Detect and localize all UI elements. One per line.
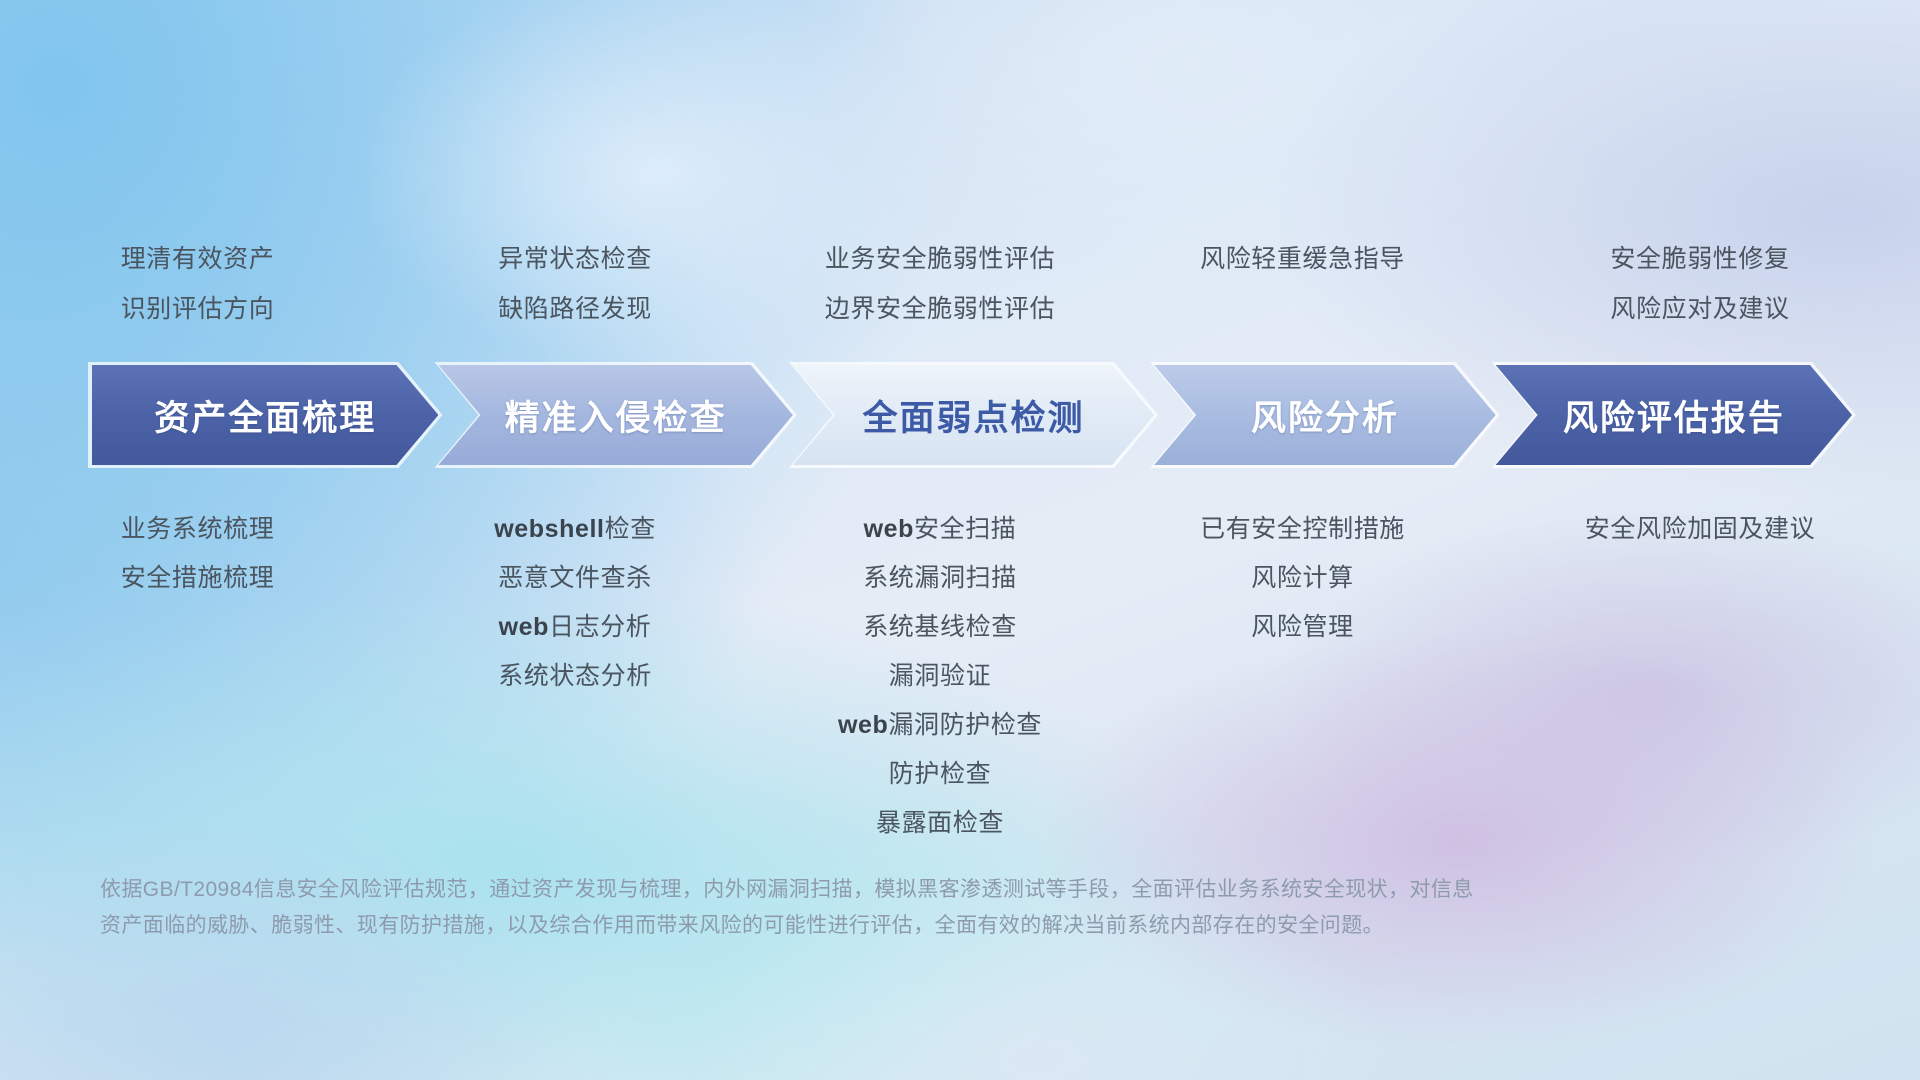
bottom-caption-item: 风险管理 (1131, 603, 1474, 652)
chevron-label: 风险分析 (1251, 390, 1399, 441)
bottom-captions-step-3: web安全扫描 系统漏洞扫描 系统基线检查 漏洞验证 web漏洞防护检查 防护检… (755, 505, 1125, 848)
chevron-label: 精准入侵检查 (505, 390, 727, 441)
chevron-body: 风险分析 (1154, 365, 1496, 465)
bottom-caption-item: webshell检查 (401, 505, 749, 554)
bottom-caption-zh: 日志分析 (549, 613, 651, 641)
bottom-caption-item: 安全风险加固及建议 (1486, 505, 1914, 554)
bottom-caption-zh: 风险管理 (1251, 613, 1353, 641)
chevron-body: 全面弱点检测 (793, 365, 1154, 465)
chevron-body: 精准入侵检查 (438, 365, 792, 465)
chevron-step-4[interactable]: 风险分析 (1154, 365, 1496, 465)
bottom-caption-item: 防护检查 (761, 750, 1119, 799)
bottom-caption-item: 漏洞验证 (761, 652, 1119, 701)
top-caption-item: 理清有效资产 (6, 234, 389, 284)
chevron-step-2[interactable]: 精准入侵检查 (438, 365, 792, 465)
bottom-caption-zh: 系统基线检查 (863, 613, 1017, 641)
top-captions-step-5: 安全脆弱性修复 风险应对及建议 (1480, 234, 1920, 334)
chevron-body: 资产全面梳理 (92, 365, 438, 465)
bottom-caption-item: web日志分析 (401, 603, 749, 652)
bottom-caption-item: 系统基线检查 (761, 603, 1119, 652)
bottom-caption-item: 恶意文件查杀 (401, 554, 749, 603)
bottom-caption-en: web (864, 515, 914, 543)
bottom-caption-item: 已有安全控制措施 (1131, 505, 1474, 554)
chevron-label: 全面弱点检测 (862, 390, 1084, 441)
top-captions-step-4: 风险轻重缓急指导 (1125, 234, 1480, 334)
process-chevron-band: 资产全面梳理 精准入侵检查 全面弱点检测 风险分析 风险评估报告 (92, 365, 1852, 465)
bottom-caption-zh: 已有安全控制措施 (1200, 515, 1405, 543)
top-captions-step-3: 业务安全脆弱性评估 边界安全脆弱性评估 (755, 234, 1125, 334)
chevron-step-5[interactable]: 风险评估报告 (1496, 365, 1852, 465)
bottom-caption-item: web漏洞防护检查 (761, 701, 1119, 750)
bottom-caption-zh: 业务系统梳理 (121, 515, 275, 543)
chevron-label: 风险评估报告 (1563, 390, 1785, 441)
bottom-captions-step-5: 安全风险加固及建议 (1480, 505, 1920, 848)
top-caption-item: 识别评估方向 (6, 284, 389, 334)
top-caption-item: 缺陷路径发现 (401, 284, 749, 334)
bottom-caption-zh: 风险计算 (1251, 564, 1353, 592)
bottom-caption-item: 系统漏洞扫描 (761, 554, 1119, 603)
chevron-step-3[interactable]: 全面弱点检测 (793, 365, 1154, 465)
chevron-body: 风险评估报告 (1496, 365, 1852, 465)
bottom-captions-row: 业务系统梳理 安全措施梳理 webshell检查 恶意文件查杀 web日志分析 (0, 505, 1920, 848)
chevron-step-1[interactable]: 资产全面梳理 (92, 365, 438, 465)
top-caption-item: 业务安全脆弱性评估 (761, 234, 1119, 284)
bottom-captions-step-1: 业务系统梳理 安全措施梳理 (0, 505, 395, 848)
process-diagram: 理清有效资产 识别评估方向 异常状态检查 缺陷路径发现 业务安全脆弱性评估 边界… (0, 0, 1920, 1080)
bottom-caption-zh: 检查 (605, 515, 656, 543)
bottom-caption-item: 系统状态分析 (401, 652, 749, 701)
bottom-caption-zh: 安全扫描 (914, 515, 1016, 543)
bottom-caption-zh: 漏洞验证 (889, 662, 991, 690)
bottom-caption-zh: 安全措施梳理 (121, 564, 275, 592)
top-caption-item: 安全脆弱性修复 (1486, 234, 1914, 284)
bottom-caption-item: 暴露面检查 (761, 799, 1119, 848)
top-captions-step-1: 理清有效资产 识别评估方向 (0, 234, 395, 334)
bottom-captions-step-2: webshell检查 恶意文件查杀 web日志分析 系统状态分析 (395, 505, 755, 848)
top-caption-item: 边界安全脆弱性评估 (761, 284, 1119, 334)
top-caption-item: 异常状态检查 (401, 234, 749, 284)
bottom-caption-item: web安全扫描 (761, 505, 1119, 554)
bottom-caption-item: 业务系统梳理 (6, 505, 389, 554)
bottom-caption-zh: 暴露面检查 (876, 809, 1004, 837)
bottom-caption-en: web (838, 711, 888, 739)
bottom-caption-zh: 漏洞防护检查 (888, 711, 1042, 739)
top-caption-item: 风险应对及建议 (1486, 284, 1914, 334)
chevron-label: 资产全面梳理 (154, 390, 376, 441)
bottom-caption-zh: 恶意文件查杀 (498, 564, 652, 592)
top-caption-item: 风险轻重缓急指导 (1131, 234, 1474, 284)
bottom-caption-zh: 系统状态分析 (498, 662, 652, 690)
bottom-caption-zh: 系统漏洞扫描 (863, 564, 1017, 592)
bottom-caption-zh: 安全风险加固及建议 (1585, 515, 1815, 543)
bottom-caption-zh: 防护检查 (889, 760, 991, 788)
bottom-caption-item: 风险计算 (1131, 554, 1474, 603)
footnote-line-2: 资产面临的威胁、脆弱性、现有防护措施，以及综合作用而带来风险的可能性进行评估，全… (100, 908, 1700, 944)
bottom-caption-en: web (499, 613, 549, 641)
top-captions-row: 理清有效资产 识别评估方向 异常状态检查 缺陷路径发现 业务安全脆弱性评估 边界… (0, 234, 1920, 334)
footnote-line-1: 依据GB/T20984信息安全风险评估规范，通过资产发现与梳理，内外网漏洞扫描，… (100, 872, 1700, 908)
bottom-caption-item: 安全措施梳理 (6, 554, 389, 603)
footnote: 依据GB/T20984信息安全风险评估规范，通过资产发现与梳理，内外网漏洞扫描，… (100, 872, 1700, 944)
bottom-caption-en: webshell (494, 515, 604, 543)
top-captions-step-2: 异常状态检查 缺陷路径发现 (395, 234, 755, 334)
bottom-captions-step-4: 已有安全控制措施 风险计算 风险管理 (1125, 505, 1480, 848)
